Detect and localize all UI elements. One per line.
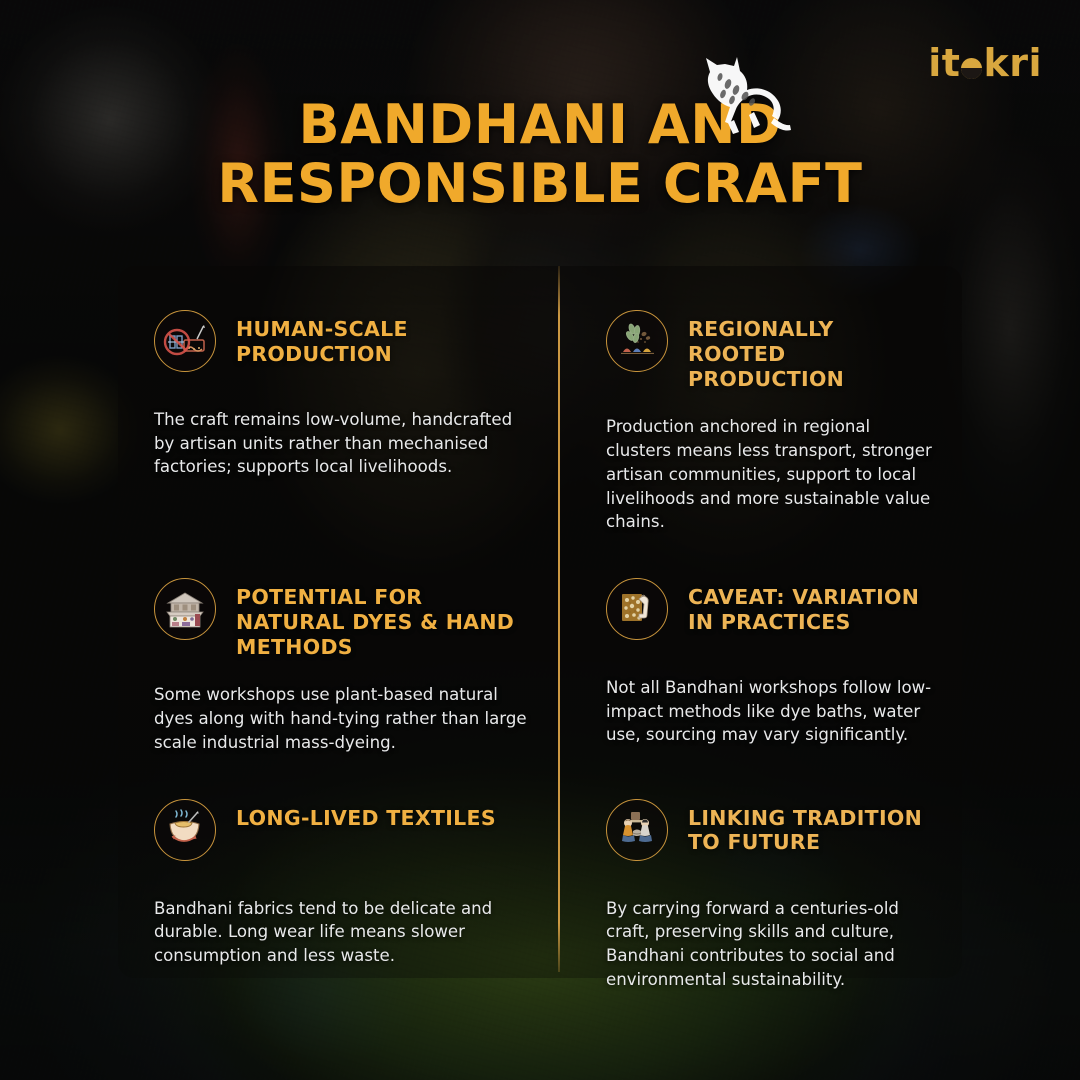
content-grid: HUMAN-SCALE PRODUCTION The craft remains…	[118, 266, 962, 978]
infographic-poster: itkri BANDHANI AND RESPONSIBLE CRAFT	[0, 0, 1080, 1080]
block-regionally-rooted-production: REGIONALLY ROOTED PRODUCTION Production …	[558, 266, 962, 534]
block-body: Some workshops use plant-based natural d…	[154, 683, 528, 754]
block-body: Not all Bandhani workshops follow low-im…	[606, 676, 938, 747]
block-header: HUMAN-SCALE PRODUCTION	[154, 308, 528, 384]
block-caveat-variation-in-practices: CAVEAT: VARIATION IN PRACTICES Not all B…	[558, 534, 962, 755]
itokri-logo[interactable]: itkri	[928, 44, 1042, 82]
block-header: CAVEAT: VARIATION IN PRACTICES	[606, 576, 938, 652]
block-body: The craft remains low-volume, handcrafte…	[154, 408, 528, 479]
steaming-dye-pot-recycle-icon	[154, 799, 216, 861]
artisan-workshop-building-icon	[154, 578, 216, 640]
block-header: REGIONALLY ROOTED PRODUCTION	[606, 308, 938, 391]
block-header: LONG-LIVED TEXTILES	[154, 797, 528, 873]
no-factory-machine-icon	[154, 310, 216, 372]
poster-title: BANDHANI AND RESPONSIBLE CRAFT	[0, 96, 1080, 214]
logo-text-after: kri	[983, 41, 1042, 85]
block-header: LINKING TRADITION TO FUTURE	[606, 797, 938, 873]
logo-text-before: it	[928, 41, 960, 85]
block-body: Bandhani fabrics tend to be delicate and…	[154, 897, 528, 968]
block-title: LINKING TRADITION TO FUTURE	[688, 797, 938, 856]
block-potential-for-natural-dyes: POTENTIAL FOR NATURAL DYES & HAND METHOD…	[118, 534, 558, 755]
leaves-and-dye-powders-icon	[606, 310, 668, 372]
title-line-1: BANDHANI AND	[150, 96, 930, 155]
block-title: LONG-LIVED TEXTILES	[236, 797, 496, 831]
block-header: POTENTIAL FOR NATURAL DYES & HAND METHOD…	[154, 576, 528, 659]
title-line-2: RESPONSIBLE CRAFT	[150, 155, 930, 214]
block-title: POTENTIAL FOR NATURAL DYES & HAND METHOD…	[236, 576, 528, 659]
logo-basket-o-icon	[961, 58, 982, 79]
block-body: By carrying forward a centuries-old craf…	[606, 897, 938, 992]
block-title: CAVEAT: VARIATION IN PRACTICES	[688, 576, 938, 635]
block-body: Production anchored in regional clusters…	[606, 415, 938, 534]
block-title: HUMAN-SCALE PRODUCTION	[236, 308, 528, 367]
two-seated-artisans-icon	[606, 799, 668, 861]
block-linking-tradition-to-future: LINKING TRADITION TO FUTURE By carrying …	[558, 755, 962, 992]
block-human-scale-production: HUMAN-SCALE PRODUCTION The craft remains…	[118, 266, 558, 534]
hand-holding-bandhani-fabric-icon	[606, 578, 668, 640]
white-cat-silhouette-icon	[690, 52, 794, 144]
block-long-lived-textiles: LONG-LIVED TEXTILES Bandhani fabrics ten…	[118, 755, 558, 992]
block-title: REGIONALLY ROOTED PRODUCTION	[688, 308, 938, 391]
